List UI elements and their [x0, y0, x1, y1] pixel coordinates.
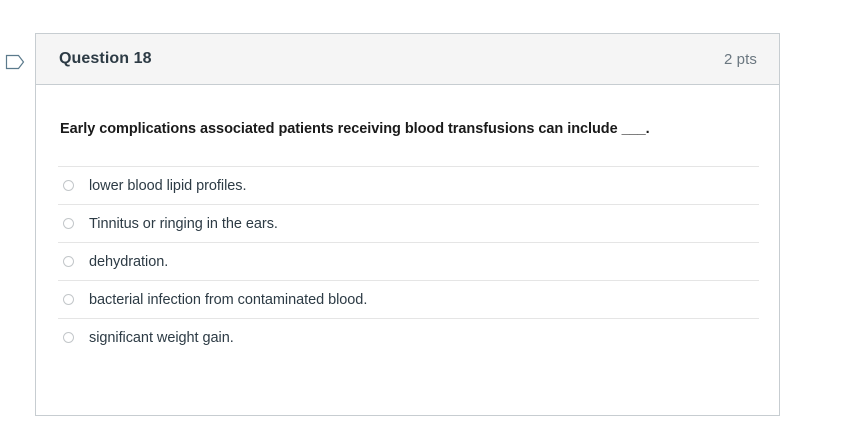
question-body: Early complications associated patients … — [36, 85, 779, 356]
radio-button-icon[interactable] — [63, 294, 74, 305]
radio-button-icon[interactable] — [63, 218, 74, 229]
answer-option-row[interactable]: dehydration. — [58, 242, 759, 280]
answer-option-row[interactable]: bacterial infection from contaminated bl… — [58, 280, 759, 318]
answer-option-label: lower blood lipid profiles. — [89, 178, 246, 194]
answer-options-list: lower blood lipid profiles. Tinnitus or … — [58, 166, 759, 356]
radio-button-icon[interactable] — [63, 332, 74, 343]
radio-button-icon[interactable] — [63, 180, 74, 191]
answer-option-row[interactable]: significant weight gain. — [58, 318, 759, 356]
answer-option-label: dehydration. — [89, 254, 168, 270]
question-prompt-text: Early complications associated patients … — [36, 85, 779, 145]
question-card: Question 18 2 pts Early complications as… — [35, 33, 780, 416]
radio-button-icon[interactable] — [63, 256, 74, 267]
answer-option-label: Tinnitus or ringing in the ears. — [89, 216, 278, 232]
question-points-badge: 2 pts — [724, 51, 757, 68]
page-title: Question 18 — [59, 50, 152, 68]
answer-option-label: bacterial infection from contaminated bl… — [89, 292, 367, 308]
question-header: Question 18 2 pts — [36, 34, 779, 85]
quiz-question-page: Question 18 2 pts Early complications as… — [0, 0, 866, 440]
answer-option-row[interactable]: Tinnitus or ringing in the ears. — [58, 204, 759, 242]
flag-outline-icon[interactable] — [4, 51, 26, 73]
answer-option-label: significant weight gain. — [89, 330, 234, 346]
answer-option-row[interactable]: lower blood lipid profiles. — [58, 166, 759, 204]
